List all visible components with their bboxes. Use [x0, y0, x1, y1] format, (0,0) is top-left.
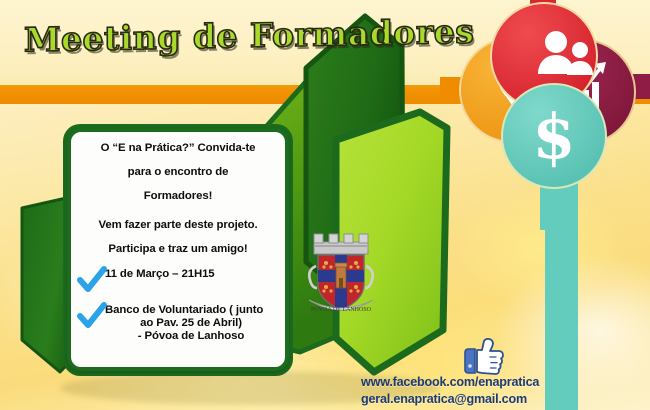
circle-money: $ — [502, 84, 606, 188]
scroll-left — [309, 266, 317, 288]
detail-item-datetime: 11 de Março – 21H15 — [79, 268, 277, 294]
detail-location-text: Banco de Voluntariado ( junto ao Pav. 25… — [105, 304, 277, 343]
detail-location-line-1: Banco de Voluntariado ( junto — [105, 304, 277, 317]
detail-location-line-3: - Póvoa de Lanhoso — [105, 330, 277, 343]
dollar-icon: $ — [532, 100, 575, 173]
facebook-thumbs-up-icon[interactable] — [441, 332, 513, 376]
banner-text: PÓVOA DE LANHOSO — [311, 305, 372, 313]
check-icon — [77, 266, 107, 294]
detail-item-location: Banco de Voluntariado ( junto ao Pav. 25… — [79, 304, 277, 343]
card-line-3: Formadores! — [79, 191, 277, 203]
poster-canvas: O “E na Prática?” Convida-te para o enco… — [0, 0, 650, 410]
invitation-card: O “E na Prática?” Convida-te para o enco… — [67, 128, 289, 371]
tower-icon — [335, 263, 347, 288]
footer-contact: www.facebook.com/enapratica geral.enapra… — [361, 374, 539, 407]
detail-datetime-text: 11 de Março – 21H15 — [105, 268, 277, 281]
icon-cluster: $ — [440, 0, 650, 230]
sleeve — [465, 349, 475, 373]
scroll-right — [365, 266, 373, 288]
facebook-url[interactable]: www.facebook.com/enapratica — [361, 374, 539, 391]
detail-location-line-2: ao Pav. 25 de Abril) — [105, 317, 277, 330]
card-line-4: Vem fazer parte deste projeto. — [79, 220, 277, 232]
mural-crown-icon — [314, 234, 368, 254]
email-address[interactable]: geral.enapratica@gmail.com — [361, 391, 539, 408]
card-line-5: Participa e traz um amigo! — [79, 244, 277, 256]
povoa-de-lanhoso-coat-of-arms: PÓVOA DE LANHOSO — [299, 222, 383, 318]
card-line-1: O “E na Prática?” Convida-te — [79, 143, 277, 155]
card-line-2: para o encontro de — [79, 167, 277, 179]
check-icon — [77, 302, 107, 330]
